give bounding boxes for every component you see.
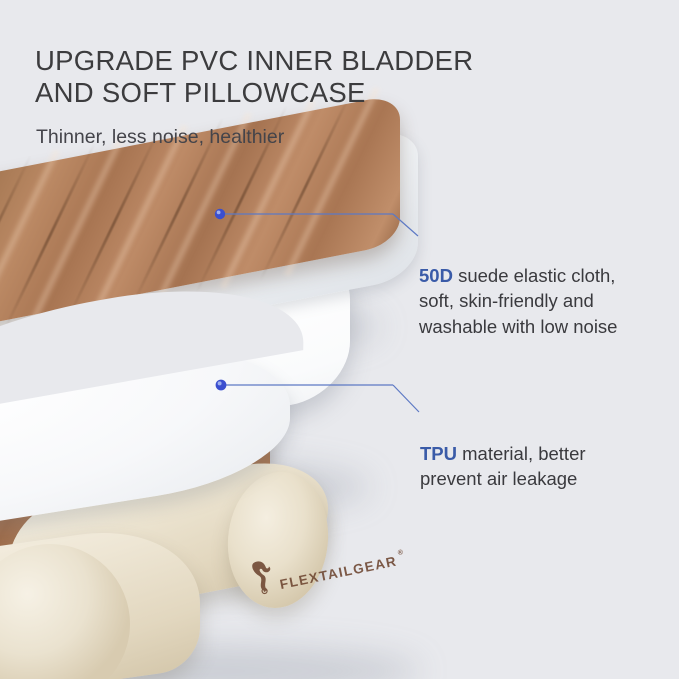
infographic-page: FLEXTAILGEAR®: [0, 0, 679, 679]
callout-keyword-1: 50D: [419, 265, 453, 286]
page-subtitle: Thinner, less noise, healthier: [36, 124, 284, 150]
page-title: UPGRADE PVC INNER BLADDER AND SOFT PILLO…: [35, 45, 635, 109]
callout-keyword-2: TPU: [420, 443, 457, 464]
product-layer-pillowcase: [0, 130, 440, 360]
callout-label-1: 50D suede elastic cloth, soft, skin-frie…: [419, 237, 677, 339]
callout-label-2: TPU material, better prevent air leakage: [420, 415, 670, 492]
